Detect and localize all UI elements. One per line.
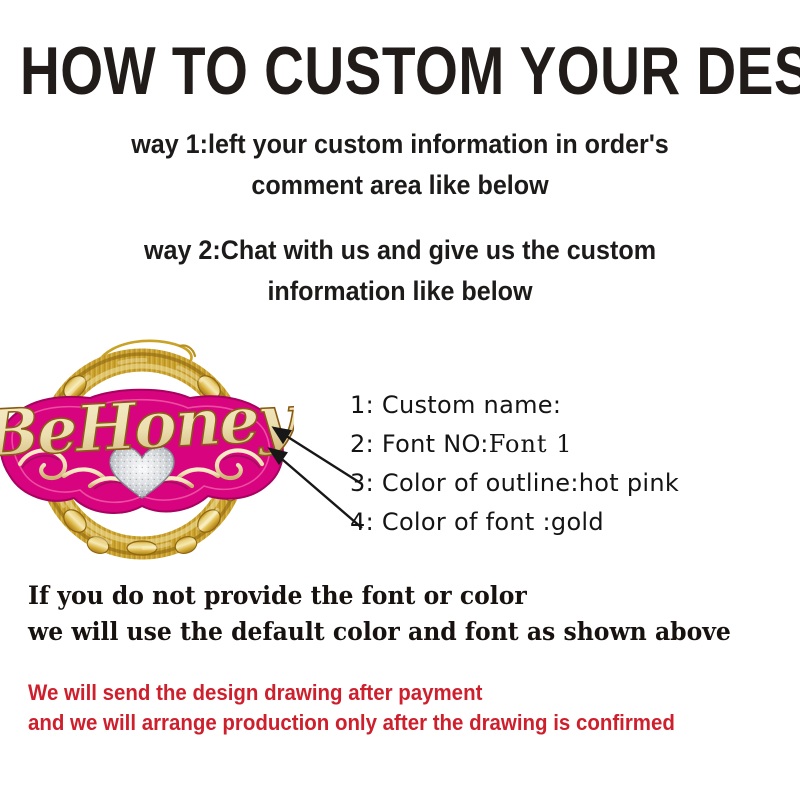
default-note-line-2: we will use the default color and font a…	[28, 614, 742, 650]
nameplate: BeHoney	[0, 381, 294, 513]
way-2-line-1: way 2:Chat with us and give us the custo…	[43, 230, 757, 271]
red-note-line-1: We will send the design drawing after pa…	[28, 678, 735, 708]
spec-item-font-no: 2: Font NO:Font 1	[350, 425, 790, 464]
payment-drawing-note: We will send the design drawing after pa…	[28, 678, 735, 738]
spec-item-font-color: 4: Color of font :gold	[350, 503, 790, 542]
instruction-way-1: way 1:left your custom information in or…	[43, 124, 757, 206]
default-fallback-note: If you do not provide the font or color …	[28, 578, 742, 650]
spec-item-custom-name: 1: Custom name:	[350, 386, 790, 425]
instruction-way-2: way 2:Chat with us and give us the custo…	[43, 230, 757, 312]
default-note-line-1: If you do not provide the font or color	[28, 578, 742, 614]
bamboo-hoop-nameplate-earring-image: BeHoney	[0, 326, 294, 576]
way-2-line-2: information like below	[43, 271, 757, 312]
red-note-line-2: and we will arrange production only afte…	[28, 708, 735, 738]
spec-item-font-no-value: Font 1	[489, 430, 573, 458]
customization-spec-list: 1: Custom name: 2: Font NO:Font 1 3: Col…	[350, 386, 790, 542]
spec-item-font-no-label: 2: Font NO:	[350, 430, 489, 458]
how-to-custom-your-design-infographic: HOW TO CUSTOM YOUR DESIGN way 1:left you…	[0, 0, 800, 800]
way-1-line-1: way 1:left your custom information in or…	[43, 124, 757, 165]
way-1-line-2: comment area like below	[43, 165, 757, 206]
spec-item-outline-color: 3: Color of outline:hot pink	[350, 464, 790, 503]
page-title: HOW TO CUSTOM YOUR DESIGN	[20, 36, 780, 108]
